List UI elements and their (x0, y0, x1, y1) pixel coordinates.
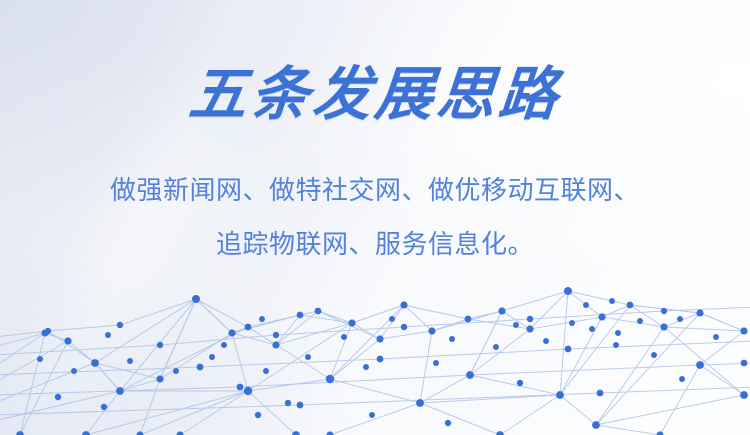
page-title: 五条发展思路 (0, 66, 750, 124)
subtitle-block: 做强新闻网、做特社交网、做优移动互联网、 追踪物联网、服务信息化。 (0, 163, 750, 271)
network-mesh-graphic (0, 275, 750, 435)
poster-canvas: 五条发展思路 做强新闻网、做特社交网、做优移动互联网、 追踪物联网、服务信息化。 (0, 0, 750, 435)
subtitle-line-2: 追踪物联网、服务信息化。 (0, 217, 750, 271)
network-edges (0, 291, 750, 435)
subtitle-line-1: 做强新闻网、做特社交网、做优移动互联网、 (0, 163, 750, 217)
